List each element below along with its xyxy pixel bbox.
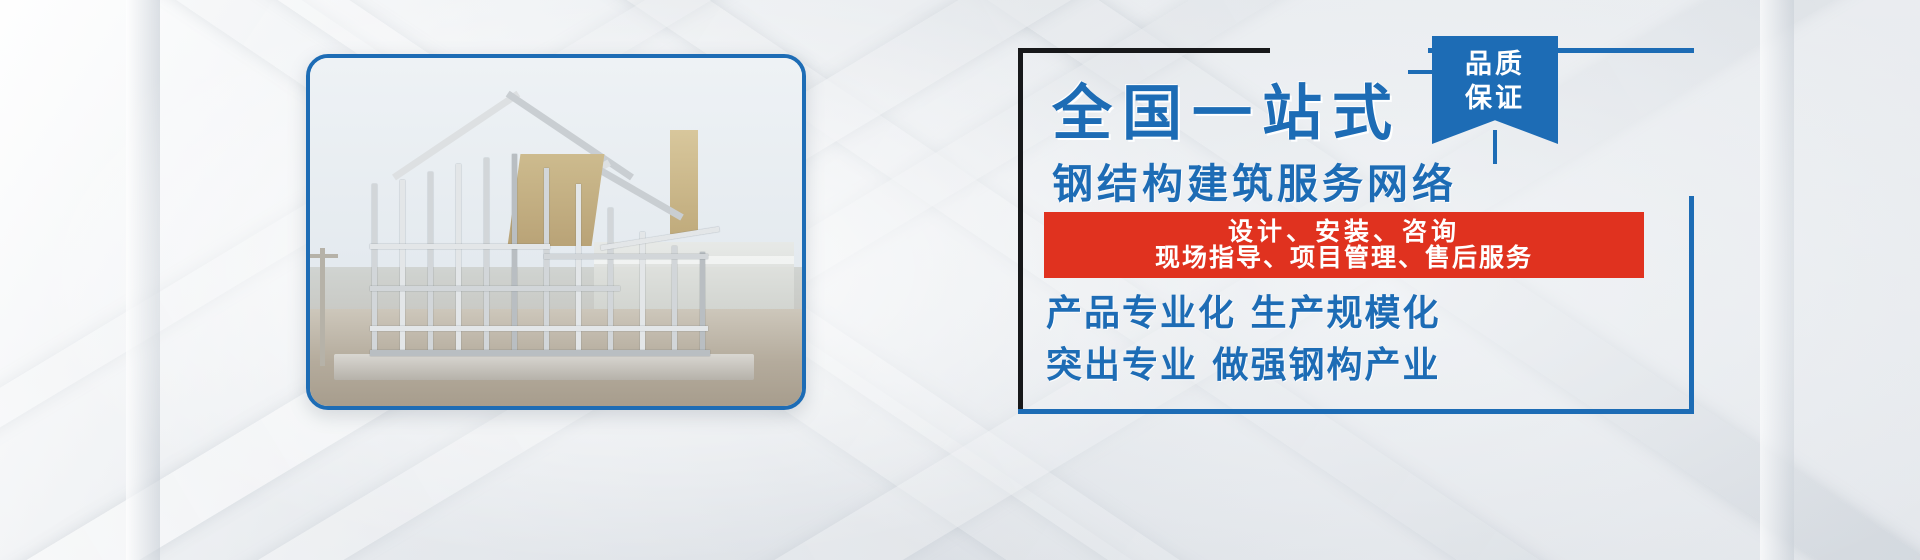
project-photo xyxy=(310,58,802,406)
photo-utility-pole xyxy=(320,248,325,366)
photo-wood-sheathing xyxy=(508,154,605,246)
frame-border-left xyxy=(1018,48,1023,414)
photo-stud xyxy=(672,246,677,354)
frame-border-bottom xyxy=(1018,409,1694,414)
photo-plate xyxy=(544,254,708,259)
frame-border-top xyxy=(1018,48,1270,53)
services-line-2: 现场指导、项目管理、售后服务 xyxy=(1155,245,1533,272)
photo-plate xyxy=(370,286,620,291)
promo-banner: 全国一站式 钢结构建筑服务网络 设计、安装、咨询 现场指导、项目管理、售后服务 … xyxy=(0,0,1920,560)
page-title: 全国一站式 xyxy=(1052,84,1402,144)
slogan-line-1: 产品专业化 生产规模化 xyxy=(1046,296,1441,332)
headline-block: 全国一站式 钢结构建筑服务网络 设计、安装、咨询 现场指导、项目管理、售后服务 … xyxy=(1018,48,1694,414)
services-line-1: 设计、安装、咨询 xyxy=(1228,219,1460,246)
badge-connector-tail xyxy=(1493,130,1497,164)
photo-porch-roof xyxy=(600,227,719,251)
frame-border-right xyxy=(1689,196,1694,414)
photo-concrete-slab xyxy=(334,354,754,380)
page-subtitle: 钢结构建筑服务网络 xyxy=(1052,164,1457,205)
badge-line-2: 保证 xyxy=(1465,82,1525,116)
photo-stud xyxy=(512,154,517,354)
services-highlight-box: 设计、安装、咨询 现场指导、项目管理、售后服务 xyxy=(1044,212,1644,278)
photo-stud xyxy=(700,252,705,354)
badge-line-1: 品质 xyxy=(1465,48,1525,82)
photo-stud xyxy=(608,208,613,354)
photo-plate xyxy=(370,244,550,249)
project-photo-card xyxy=(306,54,806,410)
photo-steel-house-frame xyxy=(364,128,724,354)
photo-chimney xyxy=(670,130,698,234)
slogan-line-2: 突出专业 做强钢构产业 xyxy=(1046,348,1441,384)
photo-stud xyxy=(640,232,645,354)
photo-plate xyxy=(370,326,708,331)
photo-plate xyxy=(370,350,710,356)
photo-stud xyxy=(484,158,489,354)
